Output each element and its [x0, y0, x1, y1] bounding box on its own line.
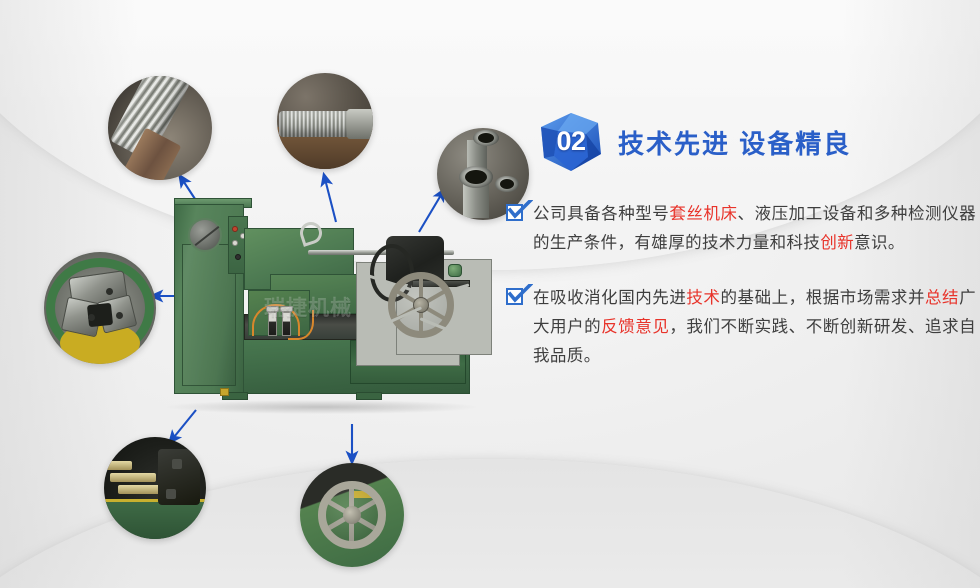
bullet-list: 公司具备各种型号套丝机床、液压加工设备和多种检测仪器的生产条件，有雄厚的技术力量…	[506, 200, 976, 397]
plain-phrase: 公司具备各种型号	[533, 205, 669, 223]
highlighted-phrase: 总结	[925, 289, 959, 307]
plain-phrase: 在吸收消化国内先进	[533, 289, 686, 307]
bullet-item-1: 公司具备各种型号套丝机床、液压加工设备和多种检测仪器的生产条件，有雄厚的技术力量…	[506, 200, 976, 258]
highlighted-phrase: 套丝机床	[669, 205, 737, 223]
photo-watermark: 瑞捷机械	[264, 292, 394, 322]
bullet-text-2: 在吸收消化国内先进技术的基础上，根据市场需求并总结广大用户的反馈意见，我们不断实…	[533, 284, 976, 371]
threaded-bar-detail	[277, 73, 373, 169]
handwheel-detail	[300, 463, 404, 567]
feature-banner: 瑞捷机械	[0, 0, 980, 588]
text-content-zone: 02 技术先进 设备精良 公司具备各种型号套丝机床、液压加工设备和多种检测仪器的…	[506, 0, 980, 588]
badge-number: 02	[540, 112, 602, 172]
highlighted-phrase: 反馈意见	[601, 318, 669, 336]
cabinet-fan-icon	[188, 218, 222, 252]
plain-phrase: 意识。	[854, 234, 905, 252]
bullet-text-1: 公司具备各种型号套丝机床、液压加工设备和多种检测仪器的生产条件，有雄厚的技术力量…	[533, 200, 976, 258]
section-header: 02 技术先进 设备精良	[540, 112, 851, 172]
checkbox-checked-icon	[506, 204, 525, 223]
threaded-rod-detail	[108, 76, 212, 180]
thread-rolling-machine: 瑞捷机械	[160, 186, 482, 418]
bullet-item-2: 在吸收消化国内先进技术的基础上，根据市场需求并总结广大用户的反馈意见，我们不断实…	[506, 284, 976, 371]
checkbox-checked-icon	[506, 288, 525, 307]
section-number-badge: 02	[540, 112, 602, 172]
plain-phrase: 的基础上，根据市场需求并	[720, 289, 925, 307]
hydraulic-block-detail	[104, 437, 206, 539]
highlighted-phrase: 创新	[820, 234, 854, 252]
product-photo-zone: 瑞捷机械	[0, 0, 500, 588]
section-title: 技术先进 设备精良	[618, 124, 851, 161]
highlighted-phrase: 技术	[686, 289, 720, 307]
die-head-detail	[44, 252, 156, 364]
